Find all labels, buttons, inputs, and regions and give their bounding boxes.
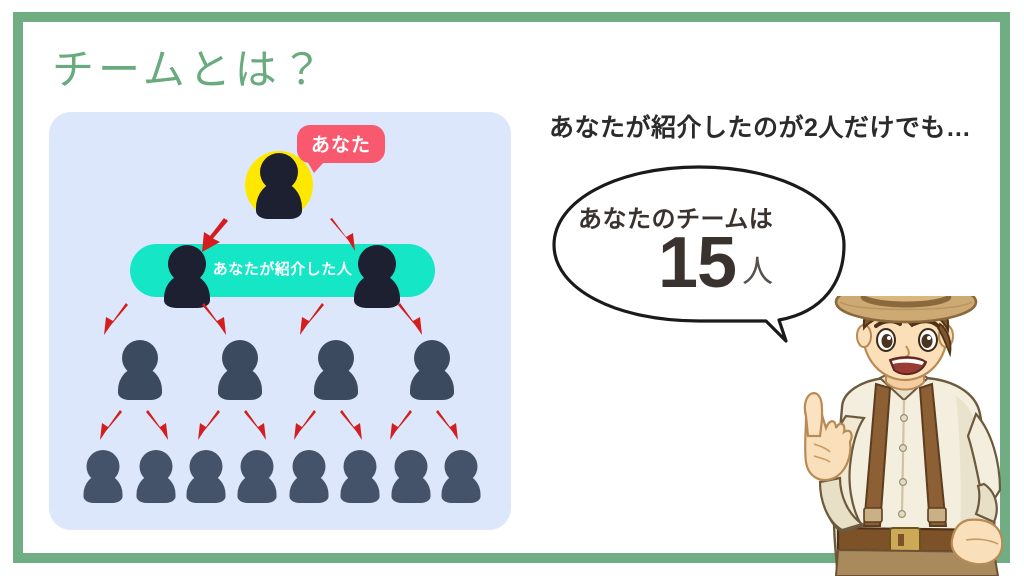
person-icon-level4-3	[183, 450, 229, 500]
person-body	[118, 367, 162, 400]
arrow-l2-2-left	[296, 303, 330, 337]
arrow-l2-1-left	[100, 303, 134, 337]
person-icon-level4-4	[234, 450, 280, 500]
person-body	[410, 367, 454, 400]
person-icon-level3-2	[214, 340, 266, 396]
you-label-bubble: あなた	[297, 125, 385, 163]
person-icon-level4-2	[133, 450, 179, 500]
arrow-l3-2-right	[238, 410, 270, 442]
arrow-l3-3-left	[290, 410, 322, 442]
team-count-number: 15	[658, 229, 736, 297]
headline-text: あなたが紹介したのが2人だけでも…	[549, 108, 971, 144]
person-body	[442, 474, 481, 503]
character-illustration	[780, 296, 1024, 576]
person-icon-level3-4	[406, 340, 458, 396]
person-icon-level4-1	[80, 450, 126, 500]
person-body	[290, 474, 329, 503]
person-icon-root	[245, 153, 313, 219]
person-body	[137, 474, 176, 503]
arrow-l2-2-right	[392, 303, 426, 337]
arrow-l3-1-right	[140, 410, 172, 442]
person-body	[314, 367, 358, 400]
page-title: チームとは？	[52, 36, 327, 97]
balloon-line-2: 15 人	[658, 229, 773, 297]
arrow-root-to-left	[196, 218, 236, 254]
person-body	[392, 474, 431, 503]
person-icon-level4-6	[337, 450, 383, 500]
person-body	[84, 474, 123, 503]
arrow-l3-4-right	[430, 410, 462, 442]
arrow-l3-4-left	[386, 410, 418, 442]
person-body	[256, 182, 302, 219]
person-icon-level4-7	[388, 450, 434, 500]
person-icon-level4-8	[438, 450, 484, 500]
arrow-l3-1-left	[96, 410, 128, 442]
arrow-root-to-right	[322, 218, 362, 254]
person-body	[341, 474, 380, 503]
team-count-unit: 人	[742, 246, 773, 297]
slide-root: チームとは？ あなた あなたが紹介した人	[0, 0, 1024, 576]
person-icon-level3-3	[310, 340, 362, 396]
arrow-l3-2-left	[194, 410, 226, 442]
person-icon-level3-1	[114, 340, 166, 396]
person-icon-level4-5	[286, 450, 332, 500]
person-body	[218, 367, 262, 400]
person-body	[187, 474, 226, 503]
arrow-l2-1-right	[196, 303, 230, 337]
level2-bar-label: あなたが紹介した人	[130, 258, 435, 279]
arrow-l3-3-right	[334, 410, 366, 442]
person-body	[238, 474, 277, 503]
